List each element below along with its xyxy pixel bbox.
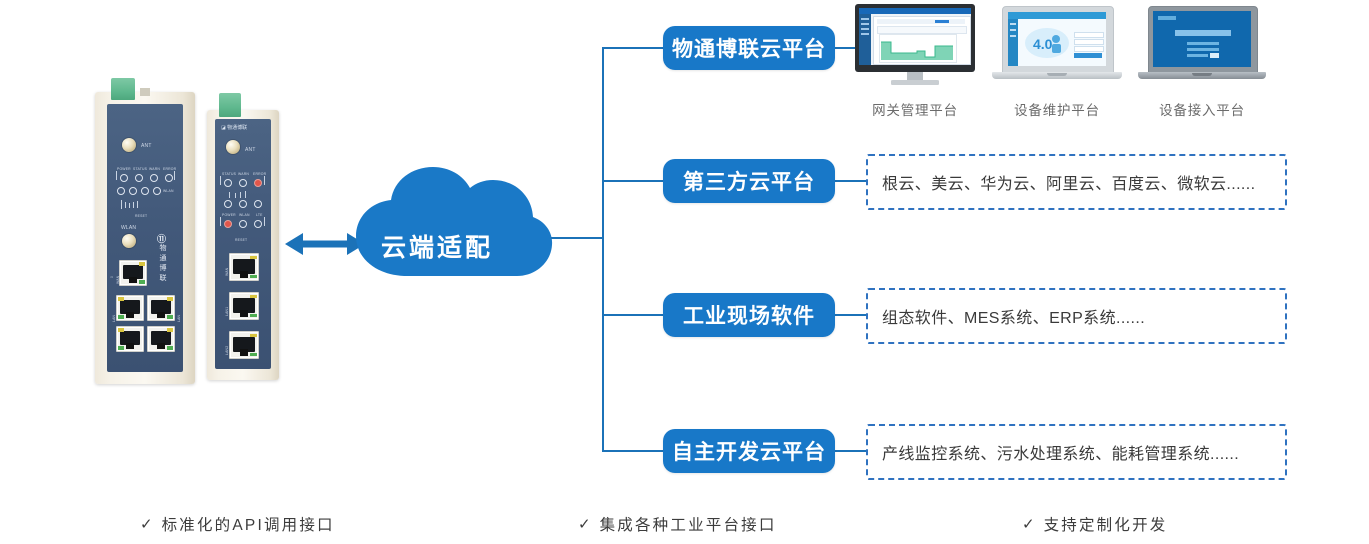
footer-text-3: 支持定制化开发 bbox=[1044, 513, 1168, 535]
router-small-led-r2-1 bbox=[224, 200, 232, 208]
check-icon-2: ✓ bbox=[578, 515, 591, 533]
monitor-sidebar-item-4 bbox=[861, 33, 869, 35]
router-large-port-label-wan: WAN bbox=[116, 276, 120, 284]
router-small-led-error bbox=[254, 179, 262, 187]
silver-laptop-topbar bbox=[1008, 12, 1106, 19]
monitor-area-chart bbox=[881, 38, 953, 60]
router-large-port-wan bbox=[119, 260, 147, 286]
check-icon-3: ✓ bbox=[1022, 515, 1035, 533]
silver-laptop-login-field-2 bbox=[1074, 39, 1104, 45]
router-small-port-wan bbox=[229, 253, 259, 281]
router-large-port-label-lan-right: LAN bbox=[177, 315, 181, 322]
router-small-port-lan1 bbox=[229, 292, 259, 320]
device-thumb-dark-laptop bbox=[1138, 6, 1266, 84]
router-large-led-r2-4 bbox=[153, 187, 161, 195]
router-large-ant-label: ANT bbox=[141, 143, 152, 149]
router-large-port-label-lan-left: LAN bbox=[112, 315, 116, 322]
router-large-port-lan3 bbox=[116, 326, 144, 352]
router-large-signal-icon bbox=[125, 202, 126, 208]
monitor-screen bbox=[859, 8, 971, 65]
router-large: ANT POWER STATUS WARN ERROR WLAN RESET W… bbox=[95, 92, 195, 384]
router-small-port-label-lan2: LAN2 bbox=[225, 346, 229, 355]
monitor-filter-row bbox=[877, 19, 965, 24]
router-small-signal-bar-3 bbox=[245, 191, 246, 198]
router-small-led-label-status: STATUS bbox=[222, 172, 236, 176]
router-small-brand-top: ◪ 物通博联 bbox=[221, 124, 247, 131]
node-branch-2[interactable]: 第三方云平台 bbox=[663, 159, 835, 203]
router-large-led-label-power: POWER bbox=[117, 167, 131, 171]
connector-trunk-vertical bbox=[602, 47, 604, 452]
router-large-reset-label: RESET bbox=[135, 214, 147, 218]
router-large-led-error bbox=[165, 174, 173, 182]
diagram-canvas: ANT POWER STATUS WARN ERROR WLAN RESET W… bbox=[0, 0, 1369, 544]
silver-laptop-login-field-3 bbox=[1074, 46, 1104, 52]
router-small: ◪ 物通博联 ANT STATUS WARN ERROR POWER WLAN … bbox=[207, 110, 279, 380]
dark-laptop-heading bbox=[1175, 30, 1231, 36]
monitor-app-sidebar bbox=[859, 14, 871, 65]
detail-box-branch-2: 根云、美云、华为云、阿里云、百度云、微软云...... bbox=[866, 154, 1287, 210]
router-small-bracket-2 bbox=[264, 176, 265, 185]
silver-laptop-sidebar bbox=[1008, 19, 1018, 66]
footer-text-1: 标准化的API调用接口 bbox=[162, 513, 335, 535]
monitor-toolbar bbox=[877, 26, 967, 34]
monitor-button-primary bbox=[935, 20, 949, 23]
router-small-led-wlan bbox=[239, 220, 247, 228]
router-small-led-r2-2 bbox=[239, 200, 247, 208]
router-large-ant-connector bbox=[122, 138, 136, 152]
silver-laptop-trackpad-notch bbox=[1047, 73, 1067, 76]
dark-laptop-logo bbox=[1158, 16, 1176, 20]
router-large-signal-bar-3 bbox=[137, 201, 138, 208]
router-small-ant-label: ANT bbox=[245, 147, 256, 153]
router-large-antenna bbox=[111, 78, 135, 100]
router-large-led-r2-2 bbox=[129, 187, 137, 195]
footer-item-3: ✓ 支持定制化开发 bbox=[1022, 513, 1167, 535]
monitor-app-titlebar bbox=[859, 8, 971, 14]
router-small-signal-bar-1 bbox=[235, 193, 236, 198]
detail-text-branch-2: 根云、美云、华为云、阿里云、百度云、微软云...... bbox=[868, 170, 1255, 194]
node-branch-3[interactable]: 工业现场软件 bbox=[663, 293, 835, 337]
connector-branch-1 bbox=[602, 47, 664, 49]
silver-laptop-screen: 4.0 bbox=[1008, 12, 1106, 66]
device-thumb-silver-laptop: 4.0 bbox=[992, 6, 1122, 84]
router-large-signal-bar-1 bbox=[129, 203, 130, 208]
router-large-port-num-0: 0 bbox=[110, 276, 114, 278]
router-small-led-r2-3 bbox=[254, 200, 262, 208]
monitor-sidebar-item-2 bbox=[861, 23, 869, 25]
detail-box-branch-3: 组态软件、MES系统、ERP系统...... bbox=[866, 288, 1287, 344]
silver-laptop-sidebar-item-3 bbox=[1010, 35, 1016, 37]
footer-item-1: ✓ 标准化的API调用接口 bbox=[140, 513, 335, 535]
dark-laptop-login-field-3 bbox=[1187, 54, 1208, 57]
caption-maintenance-platform: 设备维护平台 bbox=[992, 99, 1122, 119]
router-large-led-r2-3 bbox=[141, 187, 149, 195]
router-small-led-warn bbox=[239, 179, 247, 187]
router-large-led-r2-1 bbox=[117, 187, 125, 195]
router-large-wlan-label: WLAN bbox=[121, 225, 136, 231]
router-small-port-lan2 bbox=[229, 331, 259, 359]
router-large-wlan-connector bbox=[122, 234, 136, 248]
detail-text-branch-4: 产线监控系统、污水处理系统、能耗管理系统...... bbox=[868, 440, 1239, 464]
router-large-port-lan2 bbox=[147, 295, 175, 321]
silver-laptop-login-field-1 bbox=[1074, 32, 1104, 38]
router-large-led-status bbox=[135, 174, 143, 182]
connector-stub-4 bbox=[834, 450, 866, 452]
connector-stub-3 bbox=[834, 314, 866, 316]
router-small-led-lte bbox=[254, 220, 262, 228]
check-icon-1: ✓ bbox=[140, 515, 153, 533]
caption-gateway-platform: 网关管理平台 bbox=[855, 99, 975, 119]
device-thumb-desktop-monitor bbox=[855, 4, 975, 86]
router-small-port-label-wan: WAN bbox=[225, 268, 229, 276]
router-small-led-label-lte: LTE bbox=[256, 213, 263, 217]
router-small-signal-bar-2 bbox=[240, 192, 241, 198]
cloud-label: 云端适配 bbox=[381, 228, 493, 264]
connector-branch-4 bbox=[602, 450, 664, 452]
detail-box-branch-4: 产线监控系统、污水处理系统、能耗管理系统...... bbox=[866, 424, 1287, 480]
dark-laptop-screen bbox=[1153, 11, 1251, 67]
silver-laptop-sidebar-item-1 bbox=[1010, 23, 1016, 25]
router-small-bracket-4 bbox=[264, 217, 265, 226]
router-small-port-label-lan1: LAN1 bbox=[225, 307, 229, 316]
monitor-base bbox=[891, 80, 939, 85]
router-large-antenna-stub bbox=[140, 88, 150, 96]
router-large-led-label-warn: WARN bbox=[149, 167, 160, 171]
router-small-bracket-3 bbox=[220, 217, 221, 226]
router-large-led-bracket-1 bbox=[116, 171, 117, 180]
router-small-led-status bbox=[224, 179, 232, 187]
router-large-port-lan1 bbox=[116, 295, 144, 321]
router-small-bracket-1 bbox=[220, 176, 221, 185]
router-large-led-power bbox=[120, 174, 128, 182]
connector-cloud-to-trunk bbox=[551, 237, 604, 239]
router-large-led-warn bbox=[150, 174, 158, 182]
footer-text-2: 集成各种工业平台接口 bbox=[600, 513, 777, 535]
dark-laptop-login-field-2 bbox=[1187, 48, 1219, 51]
dark-laptop-trackpad-notch bbox=[1192, 73, 1212, 76]
router-small-led-power bbox=[224, 220, 232, 228]
silver-laptop-sidebar-item-2 bbox=[1010, 29, 1016, 31]
router-large-led-label-wlan: WLAN bbox=[163, 189, 174, 193]
connector-branch-2 bbox=[602, 180, 664, 182]
router-small-antenna bbox=[219, 93, 241, 117]
dark-laptop-login-field-1 bbox=[1187, 42, 1219, 45]
router-large-signal-bar-2 bbox=[133, 202, 134, 208]
dark-laptop-login-button bbox=[1210, 53, 1219, 58]
router-small-led-label-power: POWER bbox=[222, 213, 236, 217]
router-small-ant-connector bbox=[226, 140, 240, 154]
node-branch-4[interactable]: 自主开发云平台 bbox=[663, 429, 835, 473]
router-small-led-label-wlan: WLAN bbox=[239, 213, 250, 217]
router-large-led-label-status: STATUS bbox=[133, 167, 147, 171]
svg-text:4.0: 4.0 bbox=[1033, 36, 1053, 52]
router-large-port-lan4 bbox=[147, 326, 175, 352]
detail-text-branch-3: 组态软件、MES系统、ERP系统...... bbox=[868, 304, 1145, 328]
router-small-reset-label: RESET bbox=[235, 238, 247, 242]
node-branch-1[interactable]: 物通博联云平台 bbox=[663, 26, 835, 70]
connector-stub-2 bbox=[834, 180, 866, 182]
router-large-brand-label: 物通博联 bbox=[157, 244, 169, 284]
caption-access-platform: 设备接入平台 bbox=[1138, 99, 1266, 119]
silver-laptop-login-button bbox=[1074, 53, 1102, 58]
router-large-led-bracket-2 bbox=[174, 171, 175, 180]
router-large-signal-bracket bbox=[121, 200, 122, 209]
router-small-led-label-warn: WARN bbox=[238, 172, 249, 176]
monitor-sidebar-item-3 bbox=[861, 28, 869, 30]
footer-item-2: ✓ 集成各种工业平台接口 bbox=[578, 513, 777, 535]
router-small-signal-icon bbox=[229, 192, 230, 198]
monitor-sidebar-item-1 bbox=[861, 18, 869, 20]
silver-laptop-globe-illustration: 4.0 bbox=[1024, 26, 1070, 60]
connector-branch-3 bbox=[602, 314, 664, 316]
